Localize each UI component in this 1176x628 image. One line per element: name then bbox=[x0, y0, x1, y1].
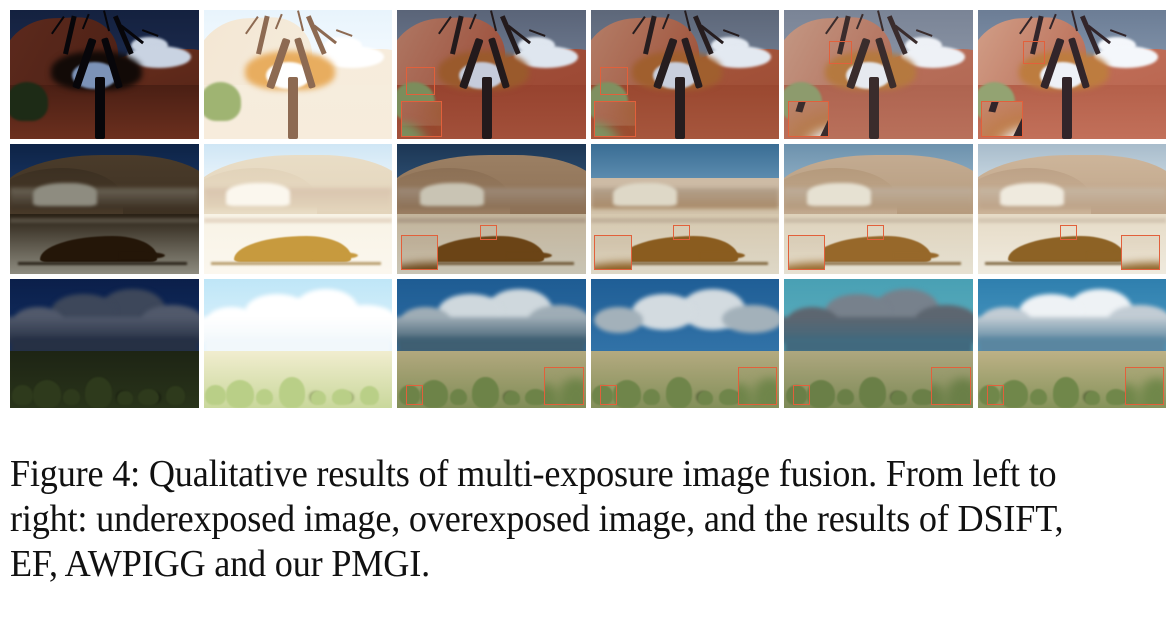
inset-content bbox=[738, 367, 778, 406]
cliff-right bbox=[1022, 108, 1023, 137]
sagebrush bbox=[719, 389, 740, 406]
sagebrush bbox=[360, 386, 379, 405]
figure-panel-r1c1 bbox=[10, 10, 199, 139]
magnified-inset-bottom-right bbox=[1121, 235, 1161, 270]
sagebrush bbox=[525, 389, 546, 406]
inset-content bbox=[788, 101, 829, 137]
panel-image bbox=[10, 144, 199, 273]
cliff-right bbox=[828, 108, 829, 137]
magnified-inset-bottom-left bbox=[401, 101, 442, 137]
inset-content bbox=[981, 101, 1022, 137]
roi-marker-box bbox=[1060, 225, 1077, 241]
roi-marker-box bbox=[600, 67, 628, 95]
magnified-inset-bottom-right bbox=[544, 367, 584, 406]
sagebrush bbox=[1053, 377, 1079, 408]
figure-panel-r2c6 bbox=[978, 144, 1167, 273]
pale-outcrop bbox=[1000, 183, 1064, 206]
figure-panel-r2c5 bbox=[784, 144, 973, 273]
sagebrush bbox=[643, 389, 660, 406]
sagebrush bbox=[544, 384, 555, 405]
panel-image bbox=[10, 279, 199, 408]
figure-caption: Figure 4: Qualitative results of multi-e… bbox=[10, 452, 1100, 587]
figure-panel-r3c5 bbox=[784, 279, 973, 408]
sagebrush bbox=[666, 377, 692, 408]
sagebrush bbox=[279, 377, 305, 408]
figure-panel-r3c2 bbox=[204, 279, 393, 408]
sagebrush bbox=[420, 380, 448, 408]
panel-image bbox=[204, 10, 393, 139]
magnified-inset-bottom-right bbox=[931, 367, 971, 406]
magnified-inset-bottom-left bbox=[594, 101, 635, 137]
sagebrush bbox=[912, 389, 933, 406]
sagebrush bbox=[837, 389, 854, 406]
sagebrush bbox=[33, 380, 61, 408]
inset-content bbox=[1121, 235, 1161, 270]
roi-marker-box bbox=[480, 225, 497, 241]
dead-tree bbox=[204, 10, 393, 139]
inset-content bbox=[544, 367, 584, 406]
sagebrush bbox=[85, 377, 111, 408]
shelf-line bbox=[204, 218, 393, 223]
sagebrush bbox=[205, 385, 226, 406]
inset-content bbox=[401, 101, 442, 137]
magnified-inset-bottom-left bbox=[981, 101, 1022, 137]
figure-panel-r1c3 bbox=[397, 10, 586, 139]
panel-image bbox=[204, 144, 393, 273]
shelf-line bbox=[788, 235, 826, 242]
sagebrush bbox=[1085, 391, 1100, 405]
shelf-line bbox=[784, 218, 973, 223]
sagebrush bbox=[738, 384, 749, 405]
sagebrush bbox=[891, 391, 906, 405]
inset-content bbox=[788, 235, 826, 270]
roi-marker-box bbox=[406, 385, 423, 406]
pale-outcrop bbox=[613, 183, 677, 206]
sagebrush bbox=[1125, 384, 1136, 405]
dead-tree bbox=[401, 101, 442, 137]
base-shadow-line bbox=[211, 262, 381, 265]
figure-panel-r2c2 bbox=[204, 144, 393, 273]
magnified-inset-bottom-left bbox=[594, 235, 632, 270]
shelf-line bbox=[397, 218, 586, 223]
figure-container: Figure 4: Qualitative results of multi-e… bbox=[0, 0, 1176, 628]
inset-content bbox=[594, 101, 635, 137]
figure-panel-r3c6 bbox=[978, 279, 1167, 408]
figure-panel-r3c1 bbox=[10, 279, 199, 408]
roi-marker-box bbox=[793, 385, 810, 406]
sagebrush bbox=[63, 389, 80, 406]
shelf-line bbox=[401, 235, 439, 242]
sagebrush bbox=[450, 389, 467, 406]
figure-panel-r1c4 bbox=[591, 10, 780, 139]
dead-tree bbox=[788, 101, 829, 137]
magnified-inset-bottom-right bbox=[738, 367, 778, 406]
dead-tree bbox=[981, 101, 1022, 137]
magnified-inset-bottom-left bbox=[401, 235, 439, 270]
roi-marker-box bbox=[673, 225, 690, 241]
dead-tree bbox=[594, 101, 635, 137]
figure-panel-r2c3 bbox=[397, 144, 586, 273]
sagebrush bbox=[117, 391, 132, 405]
roi-marker-box bbox=[987, 385, 1004, 406]
sagebrush bbox=[311, 391, 326, 405]
dark-dune bbox=[594, 265, 632, 270]
sagebrush bbox=[256, 389, 273, 406]
sagebrush bbox=[1000, 380, 1028, 408]
shelf-line bbox=[978, 218, 1167, 223]
sagebrush bbox=[504, 391, 519, 405]
dead-tree bbox=[10, 10, 199, 139]
sagebrush bbox=[138, 389, 159, 406]
pale-outcrop bbox=[420, 183, 484, 206]
sagebrush bbox=[166, 386, 185, 405]
sagebrush bbox=[613, 380, 641, 408]
image-grid bbox=[10, 10, 1166, 408]
sagebrush bbox=[472, 377, 498, 408]
panel-image bbox=[10, 10, 199, 139]
shelf-line bbox=[1121, 235, 1161, 242]
magnified-inset-bottom-right bbox=[1125, 367, 1165, 406]
sagebrush bbox=[698, 391, 713, 405]
dark-dune bbox=[1121, 265, 1161, 270]
sagebrush bbox=[1106, 389, 1127, 406]
shelf-line bbox=[10, 218, 199, 223]
figure-panel-r1c5 bbox=[784, 10, 973, 139]
figure-panel-r3c4 bbox=[591, 279, 780, 408]
sagebrush bbox=[859, 377, 885, 408]
roi-marker-box bbox=[406, 67, 434, 95]
figure-panel-r1c2 bbox=[204, 10, 393, 139]
sagebrush bbox=[226, 380, 254, 408]
magnified-inset-bottom-left bbox=[788, 101, 829, 137]
roi-marker-box bbox=[600, 385, 617, 406]
base-shadow-line bbox=[18, 262, 188, 265]
pale-outcrop bbox=[807, 183, 871, 206]
roi-marker-box bbox=[867, 225, 884, 241]
sagebrush bbox=[12, 385, 33, 406]
figure-panel-r2c1 bbox=[10, 144, 199, 273]
dark-dune bbox=[401, 265, 439, 270]
shelf-line bbox=[594, 235, 632, 242]
dark-dune bbox=[788, 265, 826, 270]
sagebrush bbox=[931, 384, 942, 405]
pale-outcrop bbox=[33, 183, 97, 206]
inset-content bbox=[401, 235, 439, 270]
magnified-inset-bottom-left bbox=[788, 235, 826, 270]
panel-image bbox=[204, 279, 393, 408]
sagebrush bbox=[807, 380, 835, 408]
pale-outcrop bbox=[226, 183, 290, 206]
inset-content bbox=[594, 235, 632, 270]
figure-panel-r3c3 bbox=[397, 279, 586, 408]
roi-marker-box bbox=[1023, 41, 1046, 64]
figure-panel-r1c6 bbox=[978, 10, 1167, 139]
roi-marker-box bbox=[829, 41, 852, 64]
sagebrush bbox=[332, 389, 353, 406]
sagebrush bbox=[1030, 389, 1047, 406]
inset-content bbox=[931, 367, 971, 406]
inset-content bbox=[1125, 367, 1165, 406]
shelf-line bbox=[591, 218, 780, 223]
figure-panel-r2c4 bbox=[591, 144, 780, 273]
